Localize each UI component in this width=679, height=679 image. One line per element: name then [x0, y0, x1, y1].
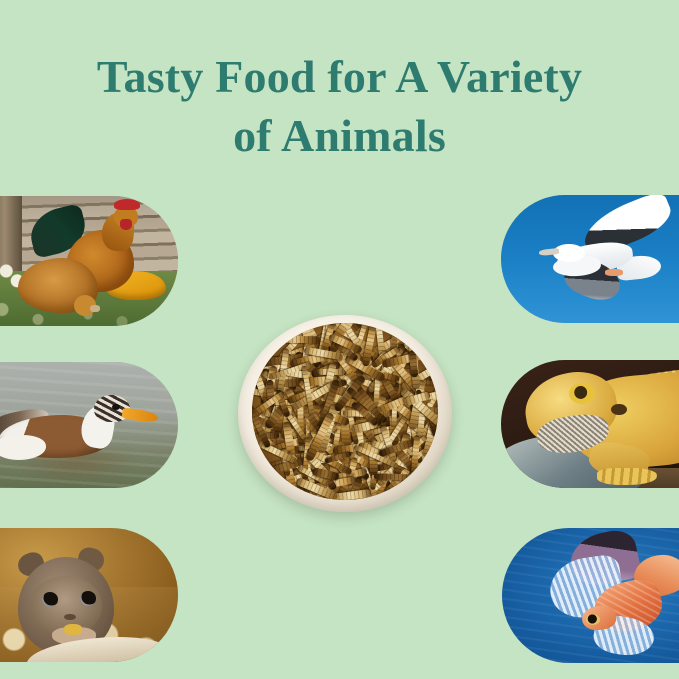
hamster-left-eye [42, 592, 58, 607]
lizard-scene [501, 360, 679, 488]
fish-scene [502, 528, 679, 663]
chicken-scene [0, 196, 178, 326]
page-title: Tasty Food for A Variety of Animals [0, 48, 679, 166]
poster-canvas: Tasty Food for A Variety of Animals [0, 0, 679, 679]
rooster-wattle [120, 219, 132, 229]
rooster-comb [114, 199, 140, 211]
seagull-foot [605, 269, 623, 275]
hamster-food-piece [64, 624, 82, 635]
hamster-right-eye [80, 591, 96, 606]
page-title-line-1: Tasty Food for A Variety [0, 48, 679, 107]
hen-beak [90, 305, 100, 312]
duck-scene [0, 362, 178, 488]
bearded-dragon-photo [501, 360, 679, 488]
hamster-scene [0, 528, 178, 662]
chicken-photo [0, 196, 178, 326]
hamster-photo [0, 528, 178, 662]
mealworm [280, 336, 320, 344]
duck-photo [0, 362, 178, 488]
page-title-line-2: of Animals [0, 107, 679, 166]
duck-eye [112, 404, 120, 410]
lizard-eye [569, 383, 595, 403]
betta-fish-photo [502, 528, 679, 663]
seagull-scene [501, 195, 679, 323]
mealworm-pile [252, 323, 438, 500]
seagull-photo [501, 195, 679, 323]
mealworm-bowl [238, 315, 452, 512]
lizard-ear-opening [611, 404, 627, 416]
